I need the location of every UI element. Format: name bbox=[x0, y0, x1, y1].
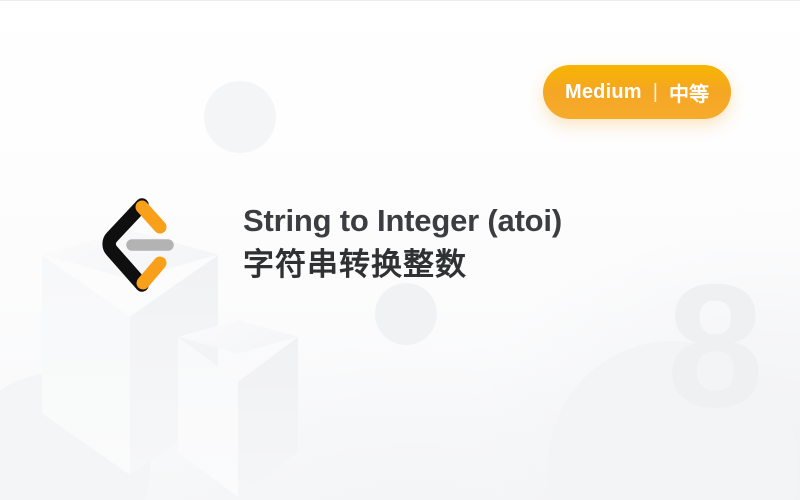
page-title-english: String to Integer (atoi) bbox=[243, 201, 673, 241]
title-block: String to Integer (atoi) 字符串转换整数 bbox=[243, 201, 673, 284]
problem-number-watermark: 8 bbox=[667, 259, 762, 434]
leetcode-logo bbox=[96, 197, 180, 293]
logo-orange-lower-arc bbox=[143, 263, 160, 283]
logo-orange-upper-arc bbox=[142, 207, 160, 227]
page-title-chinese: 字符串转换整数 bbox=[243, 245, 673, 285]
decorative-circle-middle bbox=[375, 283, 437, 345]
difficulty-label-zh: 中等 bbox=[669, 78, 709, 107]
problem-cover-card: 8 Medium | 中等 String to Integer (atoi) 字… bbox=[0, 0, 800, 500]
badge-separator: | bbox=[653, 81, 658, 104]
block-left-face bbox=[178, 337, 238, 497]
difficulty-label-en: Medium bbox=[565, 81, 642, 104]
block-right-face bbox=[238, 337, 298, 497]
decorative-circle-top bbox=[204, 81, 276, 153]
difficulty-badge[interactable]: Medium | 中等 bbox=[543, 65, 731, 119]
